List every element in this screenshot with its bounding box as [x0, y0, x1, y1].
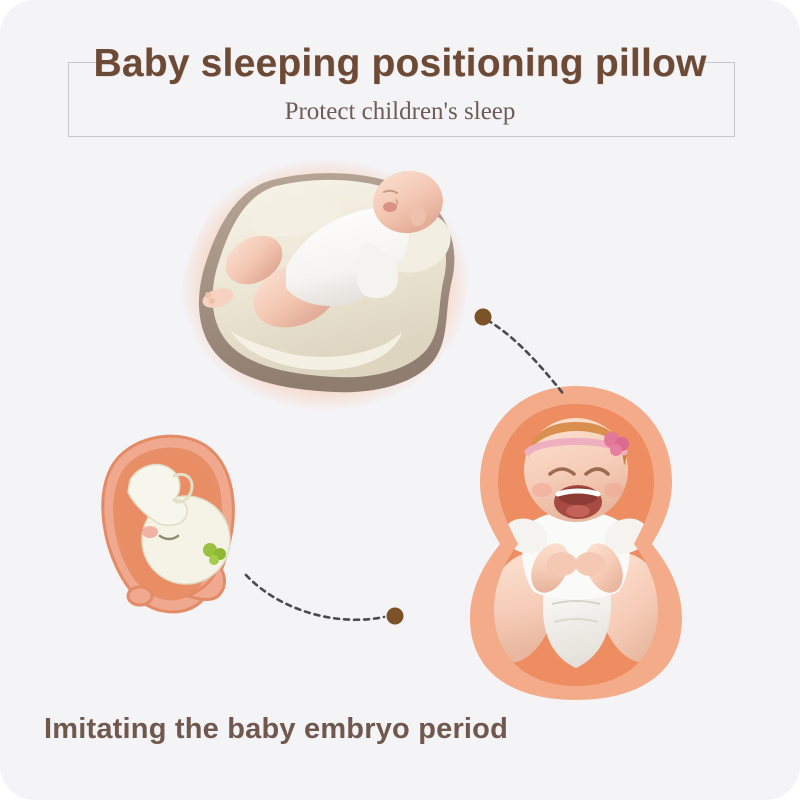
connector-upper-dashed-line [487, 320, 565, 396]
connector-upper [465, 300, 595, 405]
page-title: Baby sleeping positioning pillow [0, 42, 800, 86]
product-photo-baby-on-pillow [168, 150, 486, 418]
peanut-photo-laughing-baby [458, 378, 694, 706]
page-subtitle: Protect children's sleep [0, 98, 800, 126]
womb-nub-left [128, 587, 152, 605]
connector-upper-dot [475, 309, 492, 326]
bottom-caption: Imitating the baby embryo period [44, 713, 508, 746]
product-poster: Baby sleeping positioning pillow Protect… [0, 0, 800, 800]
connector-lower-dot [387, 608, 404, 625]
connector-lower-dashed-line [246, 575, 384, 620]
fetus-blush [142, 526, 158, 538]
connector-lower [238, 565, 418, 645]
